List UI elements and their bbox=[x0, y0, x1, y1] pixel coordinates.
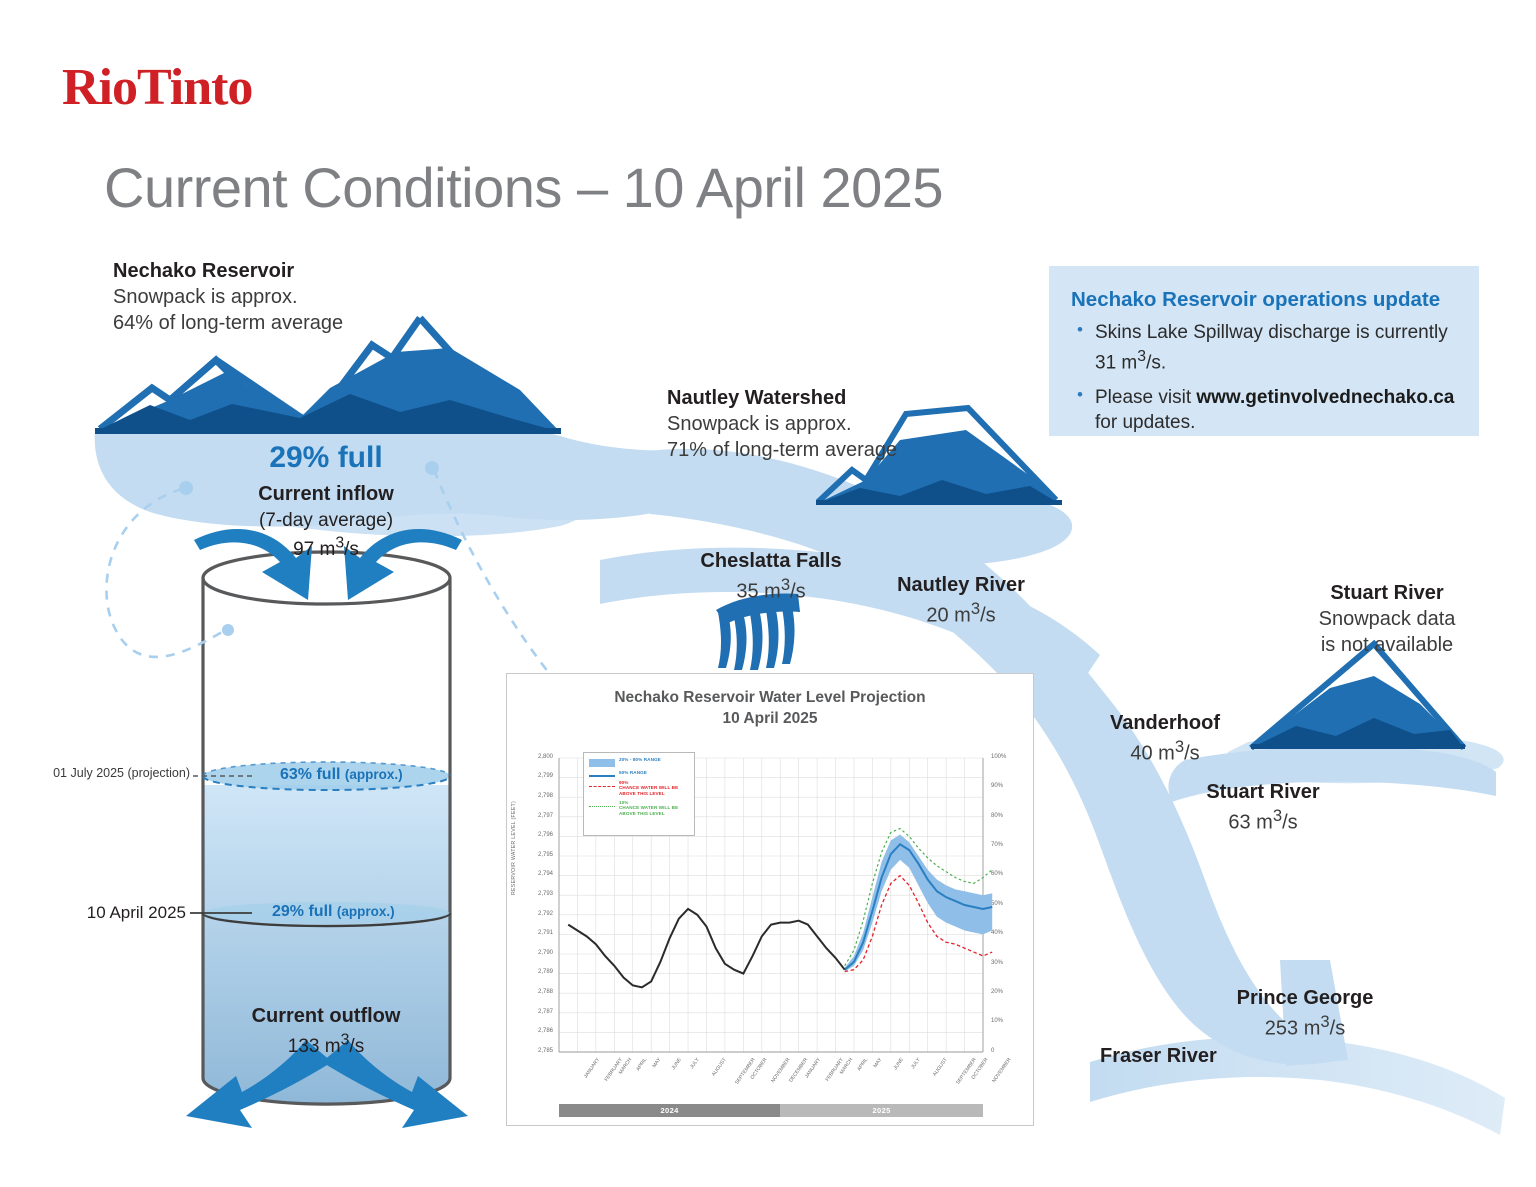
nechako-snowpack-title: Nechako Reservoir bbox=[113, 258, 343, 284]
cubic-sup: 3 bbox=[1320, 1012, 1329, 1031]
nautley-snowpack-line1: Snowpack is approx. bbox=[667, 411, 897, 437]
stuart-snowpack-title: Stuart River bbox=[1282, 580, 1492, 606]
chart-title: Nechako Reservoir Water Level Projection bbox=[507, 688, 1033, 709]
legend-label-median: 50% RANGE bbox=[619, 770, 647, 776]
nechako-snowpack-label: Nechako Reservoir Snowpack is approx. 64… bbox=[113, 258, 343, 336]
stuart-snowpack-label: Stuart River Snowpack data is not availa… bbox=[1282, 580, 1492, 658]
nautley-river-name: Nautley River bbox=[846, 572, 1076, 598]
legend-label-p90: 90% CHANCE WATER WILL BE ABOVE THIS LEVE… bbox=[619, 780, 689, 797]
current-outflow-value: 133 m3/s bbox=[288, 1036, 364, 1057]
stuart-river-name: Stuart River bbox=[1148, 779, 1378, 805]
cubic-sup: 3 bbox=[335, 535, 344, 552]
nechako-snowpack-line1: Snowpack is approx. bbox=[113, 284, 343, 310]
projection-percent-label: 63% full (approx.) bbox=[280, 766, 403, 784]
legend-p10-sub: CHANCE WATER WILL BE ABOVE THIS LEVEL bbox=[619, 805, 689, 816]
nautley-snowpack-line2: 71% of long-term average bbox=[667, 437, 897, 463]
mountain-base-line bbox=[95, 428, 561, 434]
operations-update-heading: Nechako Reservoir operations update bbox=[1071, 288, 1479, 312]
rio-tinto-logo: RioTinto bbox=[62, 62, 252, 114]
legend-item-range: 20% - 80% RANGE bbox=[589, 757, 689, 767]
operations-update-list: Skins Lake Spillway discharge is current… bbox=[1077, 320, 1459, 436]
stuart-river-value: 63 m3/s bbox=[1148, 805, 1378, 836]
stuart-river-flow-label: Stuart River 63 m3/s bbox=[1148, 779, 1378, 836]
current-inflow-title: Current inflow bbox=[258, 483, 394, 505]
current-percent-label: 29% full (approx.) bbox=[272, 903, 395, 921]
legend-item-median: 50% RANGE bbox=[589, 770, 689, 777]
cubic-sup: 3 bbox=[1137, 348, 1146, 365]
website-link[interactable]: www.getinvolvednechako.ca bbox=[1196, 387, 1454, 408]
vanderhoof-name: Vanderhoof bbox=[1050, 710, 1280, 736]
current-outflow-label: Current outflow 133 m3/s bbox=[206, 1003, 446, 1060]
cubic-sup: 3 bbox=[1273, 806, 1282, 825]
water-level-projection-chart: Nechako Reservoir Water Level Projection… bbox=[506, 673, 1034, 1126]
chart-title-block: Nechako Reservoir Water Level Projection… bbox=[507, 688, 1033, 730]
projection-date-label: 01 July 2025 (projection) bbox=[0, 766, 190, 780]
nautley-snowpack-label: Nautley Watershed Snowpack is approx. 71… bbox=[667, 385, 897, 463]
current-inflow-sub: (7-day average) bbox=[259, 510, 393, 531]
operations-update-bullet-spillway: Skins Lake Spillway discharge is current… bbox=[1077, 320, 1459, 376]
reservoir-percent-full-headline: 29% full bbox=[206, 441, 446, 475]
cubic-sup: 3 bbox=[971, 599, 980, 618]
chart-legend: 20% - 80% RANGE 50% RANGE 90% CHANCE WAT… bbox=[583, 752, 695, 836]
current-inflow-label: Current inflow (7-day average) 97 m3/s bbox=[206, 481, 446, 563]
operations-update-panel: Nechako Reservoir operations update Skin… bbox=[1049, 266, 1479, 436]
connector-dot-tank bbox=[222, 624, 234, 636]
legend-label-range: 20% - 80% RANGE bbox=[619, 757, 661, 763]
prince-george-value: 253 m3/s bbox=[1190, 1011, 1420, 1042]
page-title: Current Conditions – 10 April 2025 bbox=[104, 155, 943, 220]
prince-george-label: Prince George 253 m3/s bbox=[1190, 985, 1420, 1042]
stuart-mountain-icon bbox=[1251, 644, 1465, 749]
nautley-river-label: Nautley River 20 m3/s bbox=[846, 572, 1076, 629]
cubic-sup: 3 bbox=[1175, 737, 1184, 756]
nautley-river-value: 20 m3/s bbox=[846, 598, 1076, 629]
stuart-base-line bbox=[1251, 744, 1465, 749]
fraser-river-label: Fraser River bbox=[1100, 1043, 1217, 1069]
current-date-label: 10 April 2025 bbox=[0, 903, 186, 923]
nautley-snowpack-title: Nautley Watershed bbox=[667, 385, 897, 411]
operations-update-bullet-website: Please visit www.getinvolvednechako.ca f… bbox=[1077, 385, 1459, 436]
fraser-river-name: Fraser River bbox=[1100, 1043, 1217, 1069]
nautley-base-line bbox=[816, 500, 1062, 505]
legend-p90-sub: CHANCE WATER WILL BE ABOVE THIS LEVEL bbox=[619, 785, 689, 796]
prince-george-name: Prince George bbox=[1190, 985, 1420, 1011]
legend-item-p10: 10% CHANCE WATER WILL BE ABOVE THIS LEVE… bbox=[589, 800, 689, 817]
cheslatta-falls-icon bbox=[716, 594, 800, 670]
vanderhoof-value: 40 m3/s bbox=[1050, 736, 1280, 767]
current-inflow-value: 97 m3/s bbox=[293, 539, 359, 560]
cheslatta-falls-name: Cheslatta Falls bbox=[656, 548, 886, 574]
stuart-snowpack-line2: is not available bbox=[1282, 632, 1492, 658]
chart-subtitle: 10 April 2025 bbox=[507, 709, 1033, 730]
legend-item-p90: 90% CHANCE WATER WILL BE ABOVE THIS LEVE… bbox=[589, 780, 689, 797]
vanderhoof-label: Vanderhoof 40 m3/s bbox=[1050, 710, 1280, 767]
chart-plot-area: RESERVOIR WATER LEVEL (FEET) 2,8002,7992… bbox=[507, 730, 1035, 1130]
current-outflow-title: Current outflow bbox=[252, 1005, 401, 1027]
connector-dot-lake bbox=[179, 481, 193, 495]
legend-label-p10: 10% CHANCE WATER WILL BE ABOVE THIS LEVE… bbox=[619, 800, 689, 817]
cubic-sup: 3 bbox=[781, 575, 790, 594]
stuart-snowpack-line1: Snowpack data bbox=[1282, 606, 1492, 632]
nechako-snowpack-line2: 64% of long-term average bbox=[113, 310, 343, 336]
